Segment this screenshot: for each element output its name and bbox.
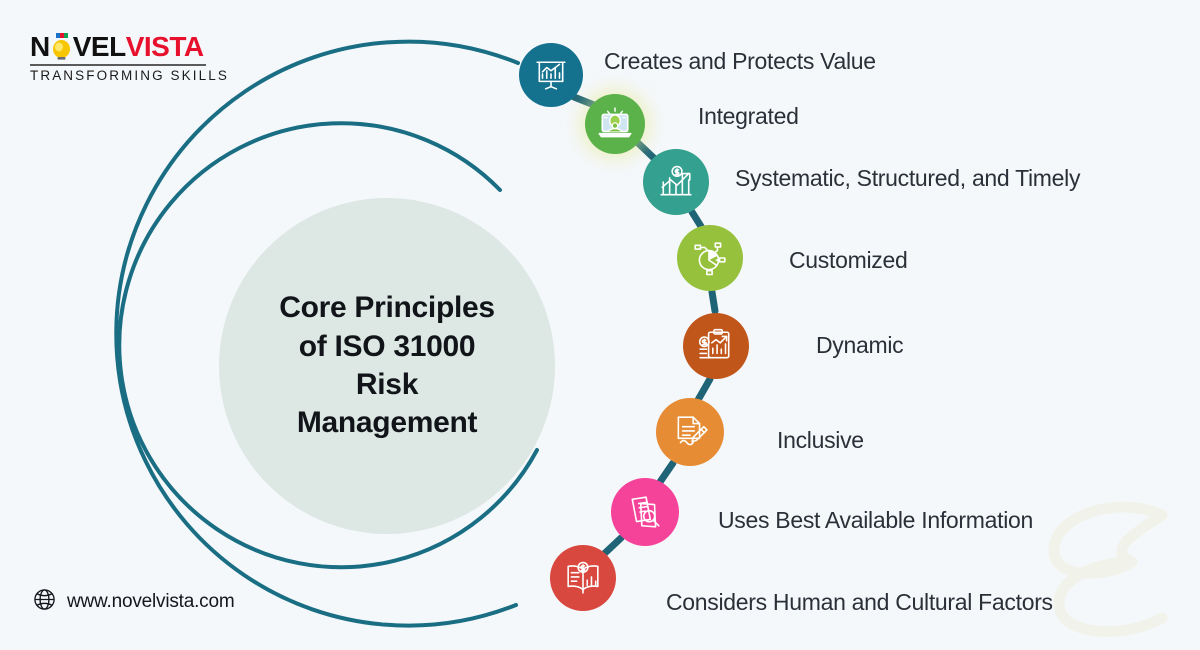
principle-node-8[interactable] — [550, 545, 616, 611]
clipboard-analytics-icon — [698, 328, 734, 364]
website-url: www.novelvista.com — [67, 591, 234, 613]
center-title-line-2: of ISO 31000 — [299, 328, 476, 366]
infographic-canvas: Core Principles of ISO 31000 Risk Manage… — [0, 0, 1200, 650]
logo-tagline: TRANSFORMING SKILLS — [30, 68, 229, 83]
documents-magnifier-icon — [627, 494, 663, 530]
principle-node-2[interactable] — [585, 94, 645, 154]
globe-icon — [33, 588, 56, 616]
center-title-line-1: Core Principles — [279, 289, 495, 327]
center-title: Core Principles of ISO 31000 Risk Manage… — [219, 198, 555, 534]
lightbulb-icon — [50, 33, 73, 61]
principle-node-4[interactable] — [677, 225, 743, 291]
principle-label-3: Systematic, Structured, and Timely — [735, 165, 1080, 192]
document-pencil-icon — [672, 414, 708, 450]
principle-label-8: Considers Human and Cultural Factors — [666, 589, 1053, 616]
principle-label-2: Integrated — [698, 103, 799, 130]
principle-label-5: Dynamic — [816, 332, 903, 359]
principle-label-1: Creates and Protects Value — [604, 48, 876, 75]
logo-letters-vel: VEL — [73, 33, 126, 61]
logo-divider — [30, 64, 206, 66]
center-title-line-4: Management — [297, 404, 477, 442]
novelvista-logo: N VEL VISTA TRANSFORMING SKILLS — [30, 33, 229, 83]
logo-letter-n: N — [30, 33, 50, 61]
principle-label-6: Inclusive — [777, 427, 864, 454]
open-book-dollar-icon — [565, 560, 601, 596]
principle-node-3[interactable] — [643, 149, 709, 215]
center-title-line-3: Risk — [356, 366, 418, 404]
footer-website[interactable]: www.novelvista.com — [33, 588, 234, 616]
principle-node-5[interactable] — [683, 313, 749, 379]
principle-node-6[interactable] — [656, 398, 724, 466]
pie-chart-settings-icon — [692, 240, 728, 276]
principle-label-4: Customized — [789, 247, 907, 274]
principle-label-7: Uses Best Available Information — [718, 507, 1033, 534]
presentation-chart-icon — [534, 58, 568, 92]
principle-node-1[interactable] — [519, 43, 583, 107]
growth-chart-dollar-icon — [658, 164, 694, 200]
laptop-lightbulb-icon — [597, 106, 633, 142]
logo-wordmark: N VEL VISTA — [30, 33, 229, 61]
logo-letters-vista: VISTA — [126, 33, 204, 61]
principle-node-7[interactable] — [611, 478, 679, 546]
